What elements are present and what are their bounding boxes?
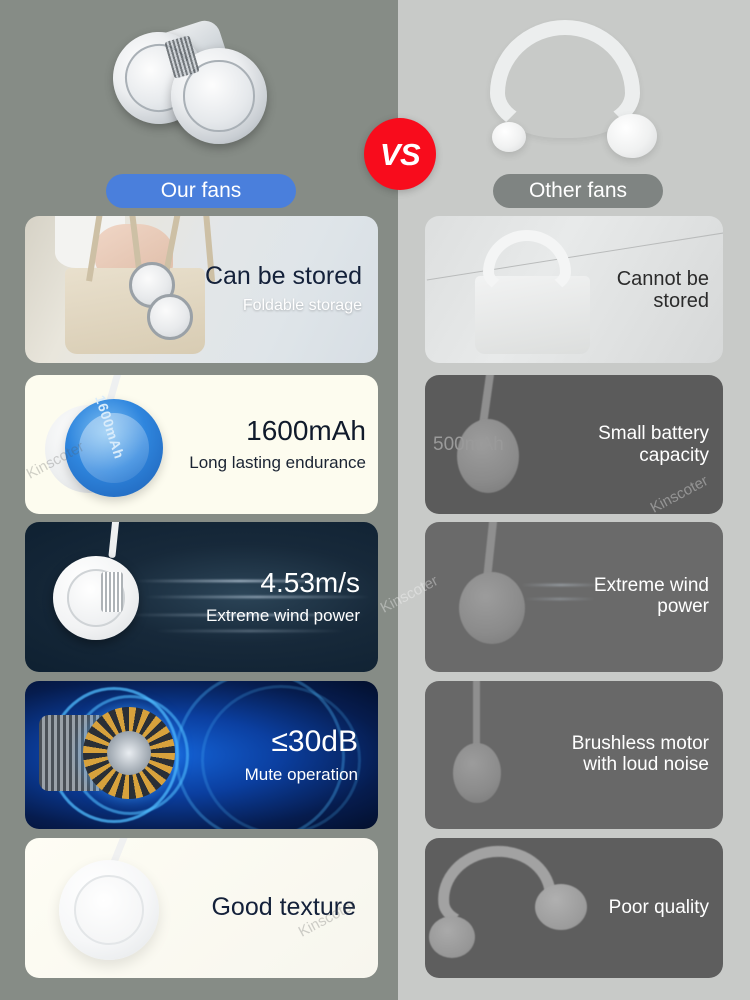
comparison-infographic: VS Our fans Other fans Can be stored Fol…: [0, 0, 750, 1000]
row-battery-right-card: 500mAh Small battery capacity: [425, 375, 723, 514]
row-wind-left-card: 4.53m/s Extreme wind power: [25, 522, 378, 672]
row-battery-left-sub: Long lasting endurance: [25, 452, 366, 473]
row-storage-left-card: Can be stored Foldable storage: [25, 216, 378, 363]
row-wind-right-headline: Extreme wind power: [425, 576, 709, 618]
vs-badge: VS: [364, 118, 436, 190]
our-fan-product-image: [95, 22, 310, 142]
row-storage-left-headline: Can be stored: [25, 263, 362, 291]
row-battery-left-card: 1600mAh 1600mAh Long lasting endurance: [25, 375, 378, 514]
row-wind-right-card: Extreme wind power: [425, 522, 723, 672]
other-fans-pill: Other fans: [493, 174, 663, 208]
row-quality-right-card: Poor quality: [425, 838, 723, 978]
hero-section: VS Our fans Other fans: [0, 0, 750, 216]
other-fan-product-image: [470, 18, 680, 158]
row-quality-left-headline: Good texture: [25, 894, 356, 922]
row-noise-right-headline: Brushless motor with loud noise: [425, 734, 709, 776]
row-noise-right-card: Brushless motor with loud noise: [425, 681, 723, 829]
row-quality-left-card: Good texture: [25, 838, 378, 978]
row-quality-right-headline: Poor quality: [425, 898, 709, 919]
row-noise-left-sub: Mute operation: [25, 764, 358, 785]
row-battery-right-headline: Small battery capacity: [598, 423, 709, 467]
row-storage-left-sub: Foldable storage: [25, 296, 362, 316]
other-fans-label: Other fans: [529, 179, 627, 203]
row-noise-left-card: ≤30dB Mute operation: [25, 681, 378, 829]
vs-label: VS: [380, 139, 420, 170]
row-noise-left-headline: ≤30dB: [25, 725, 358, 758]
row-battery-right-badge: 500mAh: [433, 434, 504, 456]
row-wind-left-headline: 4.53m/s: [25, 568, 360, 599]
row-wind-left-sub: Extreme wind power: [25, 605, 360, 626]
row-storage-right-card: Cannot be stored: [425, 216, 723, 363]
our-fans-label: Our fans: [161, 179, 242, 203]
row-storage-right-headline: Cannot be stored: [425, 268, 709, 312]
our-fans-pill: Our fans: [106, 174, 296, 208]
row-battery-left-headline: 1600mAh: [25, 416, 366, 447]
